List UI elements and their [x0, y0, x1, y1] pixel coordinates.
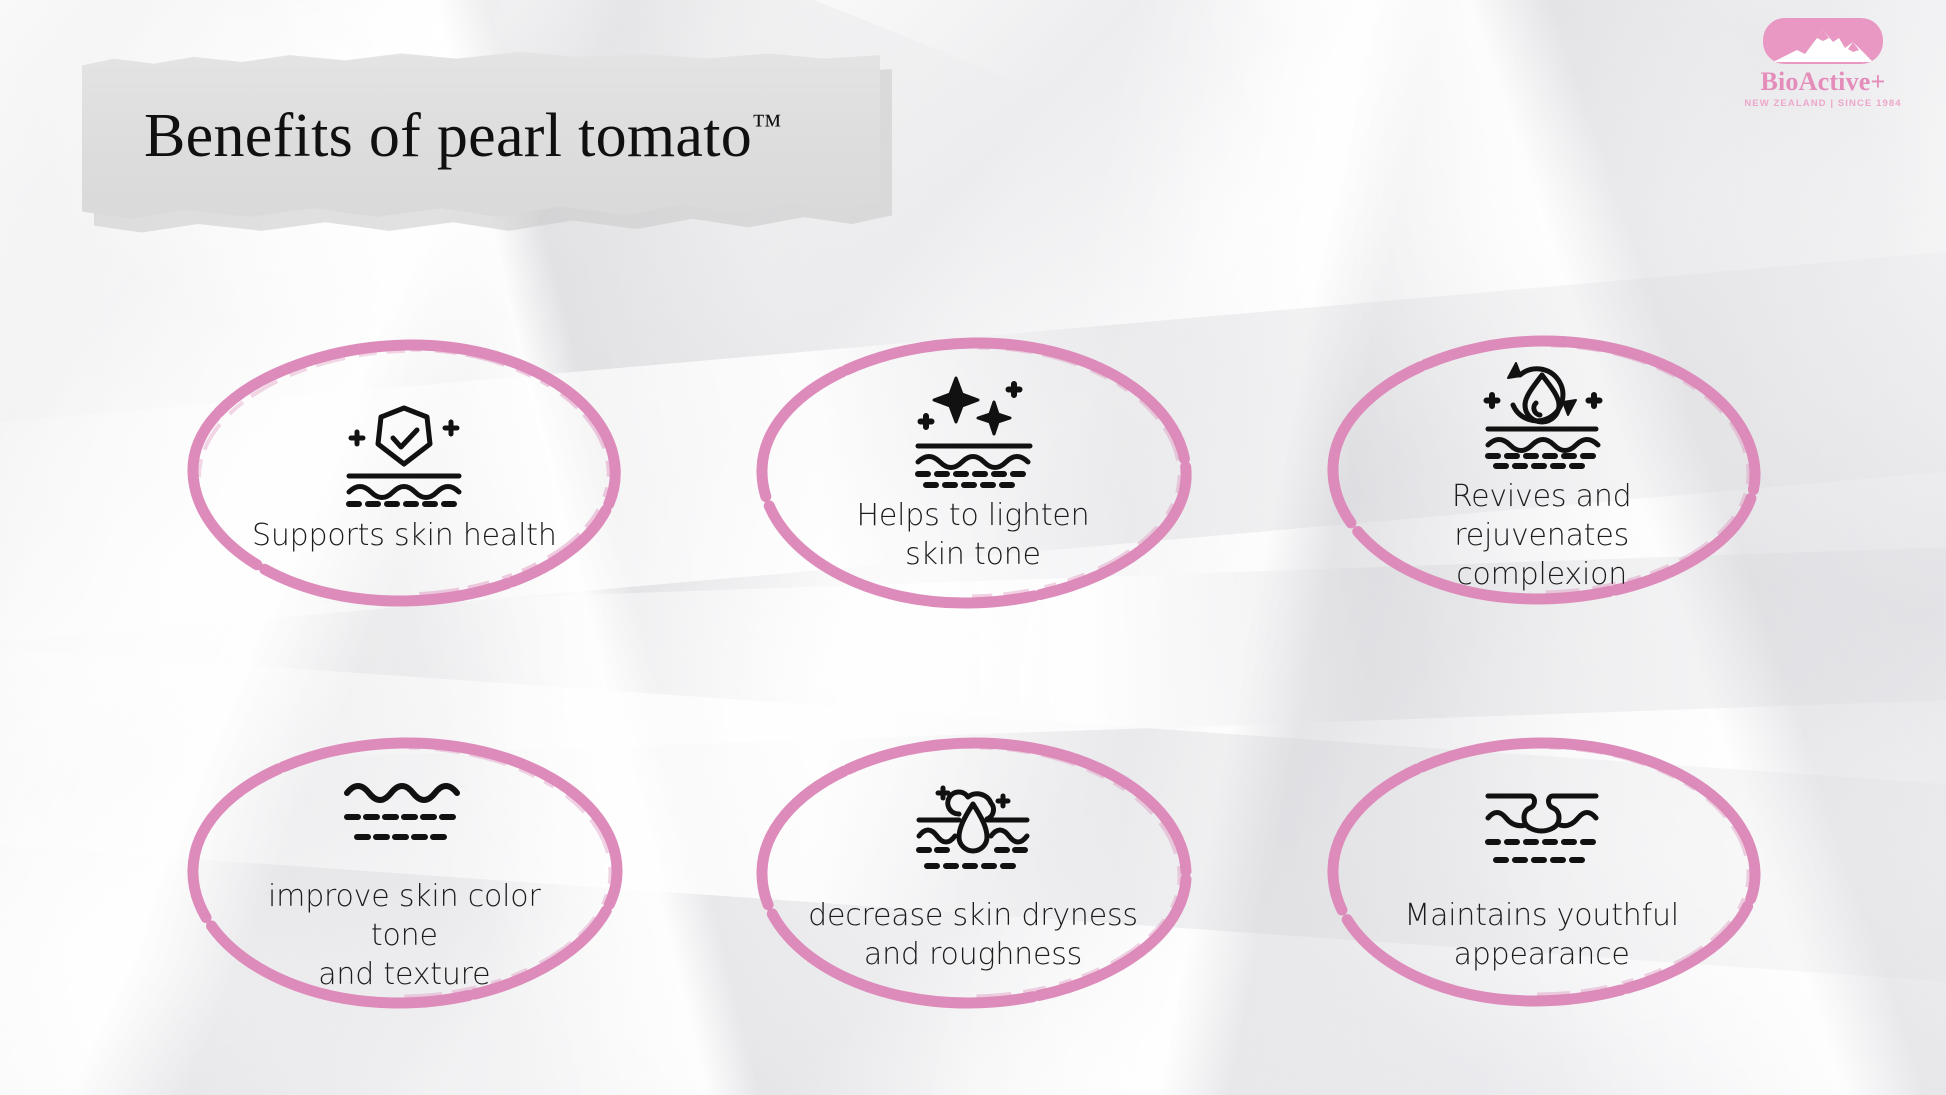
benefit-label-line1: Helps to lighten: [857, 498, 1090, 533]
moisture-absorb-skin-icon: [898, 770, 1048, 890]
benefit-card-supports-skin-health[interactable]: Supports skin health: [120, 272, 689, 672]
benefit-label: Revives and rejuvenatescomplexion: [1377, 477, 1707, 594]
smooth-skin-layers-icon: [329, 751, 479, 871]
benefit-card-helps-to-lighten-skin-tone[interactable]: Helps to lightenskin tone: [689, 272, 1258, 672]
title-banner: Benefits of pearl tomato™: [82, 50, 880, 222]
page-title: Benefits of pearl tomato™: [82, 101, 880, 172]
benefit-label: improve skin color toneand texture: [239, 877, 569, 994]
benefit-label-line2: and texture: [318, 957, 490, 992]
shield-check-skin-icon: [329, 390, 479, 510]
benefit-card-decrease-skin-dryness-and-roughness[interactable]: decrease skin drynessand roughness: [689, 672, 1258, 1072]
benefit-label: Supports skin health: [239, 516, 569, 555]
benefit-card-revives-and-rejuvenates-complexion[interactable]: Revives and rejuvenatescomplexion: [1257, 272, 1826, 672]
wrinkle-skin-icon: [1467, 770, 1617, 890]
page-title-text: Benefits of pearl tomato: [144, 102, 752, 170]
logo-wordmark: BioActive+: [1718, 69, 1928, 95]
benefit-label-line1: decrease skin dryness: [808, 898, 1138, 933]
benefit-label-line2: and roughness: [864, 937, 1082, 972]
logo-tagline: NEW ZEALAND | SINCE 1984: [1718, 99, 1928, 109]
benefit-card-improve-skin-color-tone-and-texture[interactable]: improve skin color toneand texture: [120, 672, 689, 1072]
benefit-label-line1: Revives and rejuvenates: [1452, 479, 1632, 553]
sparkles-skin-icon: [898, 370, 1048, 490]
brand-logo[interactable]: BioActive+ NEW ZEALAND | SINCE 1984: [1718, 18, 1928, 109]
benefit-card-maintains-youthful-appearance[interactable]: Maintains youthfulappearance: [1257, 672, 1826, 1072]
trademark-symbol: ™: [752, 108, 781, 141]
benefit-label: Maintains youthfulappearance: [1377, 896, 1707, 974]
benefits-grid: Supports skin health Helps to lightenski…: [0, 272, 1946, 1072]
logo-badge: [1763, 18, 1883, 64]
mountain-icon: [1767, 24, 1879, 64]
benefit-label-line2: skin tone: [905, 537, 1041, 572]
benefit-label-line2: complexion: [1456, 557, 1627, 592]
benefit-label-line1: Maintains youthful: [1404, 898, 1679, 933]
benefit-label-line2: appearance: [1454, 937, 1630, 972]
benefit-label-line1: improve skin color tone: [268, 879, 541, 953]
droplet-refresh-skin-icon: [1467, 351, 1617, 471]
benefit-label: Helps to lightenskin tone: [808, 496, 1138, 574]
benefit-label: decrease skin drynessand roughness: [808, 896, 1138, 974]
